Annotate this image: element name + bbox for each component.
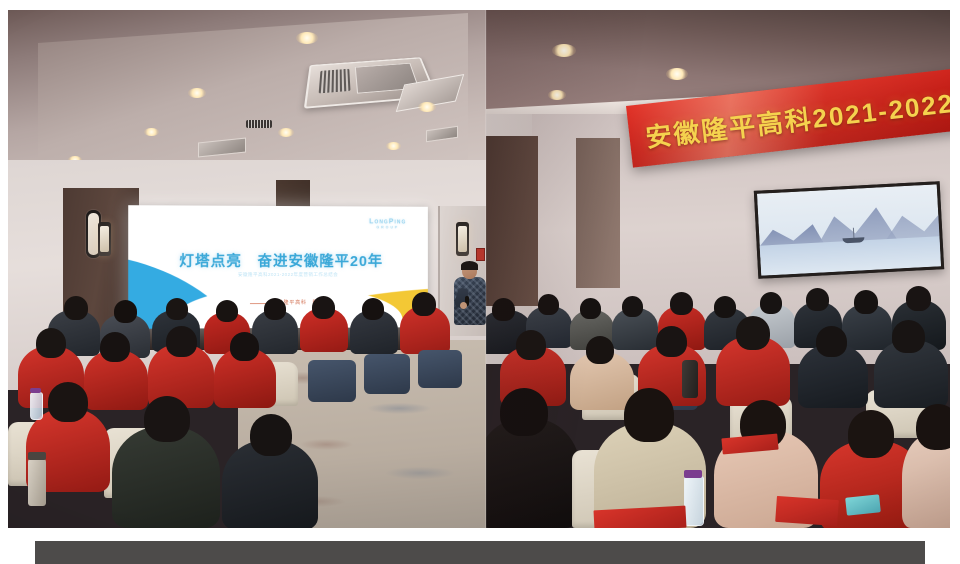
audience-member	[916, 404, 950, 450]
thermos-bottle	[682, 360, 698, 398]
ac-grill	[319, 69, 351, 94]
bottle-cap	[28, 452, 46, 460]
thermos-bottle	[28, 458, 46, 506]
slide-white-curve	[173, 286, 402, 329]
photo-right-panel: 安徽隆平高科2021-2022年度营	[486, 10, 950, 528]
downlight-icon	[188, 88, 206, 98]
screenshot-root: LongPing GROUP 灯塔点亮 奋进安徽隆平20年 安徽隆平高科2021…	[0, 0, 960, 564]
audience-member	[144, 396, 190, 442]
water-bottle	[684, 476, 704, 526]
red-document	[593, 506, 686, 528]
bottle-cap	[684, 470, 702, 478]
downlight-icon	[278, 128, 294, 137]
doorway-secondary	[576, 138, 620, 288]
carpet	[238, 340, 486, 528]
chair	[104, 428, 180, 498]
chair	[642, 366, 698, 410]
doorway-dark	[486, 136, 538, 306]
chair	[730, 396, 792, 444]
fire-alarm-icon	[476, 248, 485, 261]
landscape-painting	[754, 181, 944, 279]
slide-footer: 安徽隆平高科 程广海	[272, 299, 330, 306]
slide-subtitle: 安徽隆平高科2021-2022年度营销工作总结会	[238, 272, 338, 278]
downlight-icon	[296, 32, 318, 44]
chair	[572, 450, 658, 528]
audience-member	[902, 434, 950, 528]
audience-member	[740, 400, 786, 448]
downlight-icon	[552, 44, 576, 57]
slide-title: 灯塔点亮 奋进安徽隆平20年	[179, 250, 428, 271]
presenter-hand	[460, 302, 467, 309]
presenter-hair	[461, 261, 478, 270]
conference-photo: LongPing GROUP 灯塔点亮 奋进安徽隆平20年 安徽隆平高科2021…	[8, 10, 950, 528]
wall-sconce-icon	[98, 222, 111, 256]
audience-member	[714, 430, 818, 528]
audience-member	[624, 388, 674, 442]
audience-member	[112, 426, 220, 528]
audience-member	[486, 418, 580, 528]
red-document	[775, 496, 839, 526]
caption-bar	[35, 541, 925, 564]
wall-sconce-icon	[456, 222, 469, 256]
longping-logo: LongPing GROUP	[369, 218, 406, 229]
ceiling-speaker-icon	[246, 120, 272, 128]
chair	[8, 422, 78, 486]
projection-screen: LongPing GROUP 灯塔点亮 奋进安徽隆平20年 安徽隆平高科2021…	[128, 205, 428, 329]
stage-platform	[118, 326, 448, 350]
panel-seam	[485, 10, 487, 528]
presenter	[452, 262, 486, 324]
downlight-icon	[548, 90, 566, 100]
chair	[866, 390, 928, 438]
downlight-icon	[144, 128, 159, 136]
red-document	[721, 434, 778, 455]
photo-left-panel: LongPing GROUP 灯塔点亮 奋进安徽隆平20年 安徽隆平高科2021…	[8, 10, 486, 528]
chair	[582, 374, 640, 420]
water-bottle	[30, 392, 43, 420]
downlight-icon	[418, 102, 436, 112]
audience-member	[594, 422, 706, 528]
logo-subtext: GROUP	[369, 225, 406, 229]
audience-member	[820, 440, 924, 528]
downlight-icon	[666, 68, 688, 80]
audience-member	[26, 408, 110, 492]
audience-member	[500, 388, 548, 436]
slide-footer-dash	[250, 303, 266, 304]
downlight-icon	[386, 142, 401, 150]
audience-member	[848, 410, 894, 458]
mobile-phone	[845, 494, 881, 515]
